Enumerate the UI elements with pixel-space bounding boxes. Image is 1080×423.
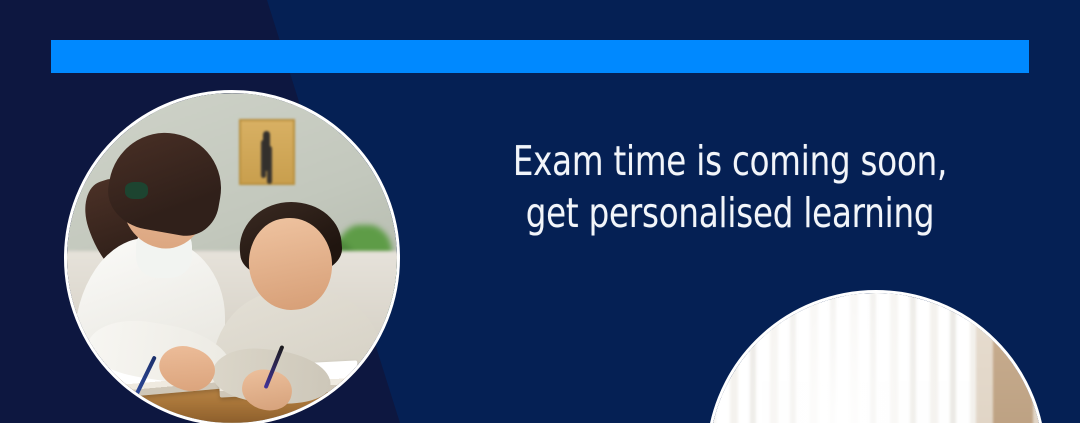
tutor-and-student-photo-inner xyxy=(67,93,397,423)
doorway xyxy=(993,340,1033,423)
blue-accent-bar xyxy=(51,40,1029,73)
student-at-window-photo xyxy=(706,290,1046,423)
tutor-and-student-photo xyxy=(64,90,400,423)
window-light-glow xyxy=(736,293,943,423)
promo-banner: Exam time is coming soon, get personalis… xyxy=(0,0,1080,423)
woman-hair-tie xyxy=(125,182,148,199)
headline-text: Exam time is coming soon, get personalis… xyxy=(475,135,985,240)
wall-art-frame xyxy=(239,119,295,185)
student-at-window-photo-inner xyxy=(709,293,1043,423)
